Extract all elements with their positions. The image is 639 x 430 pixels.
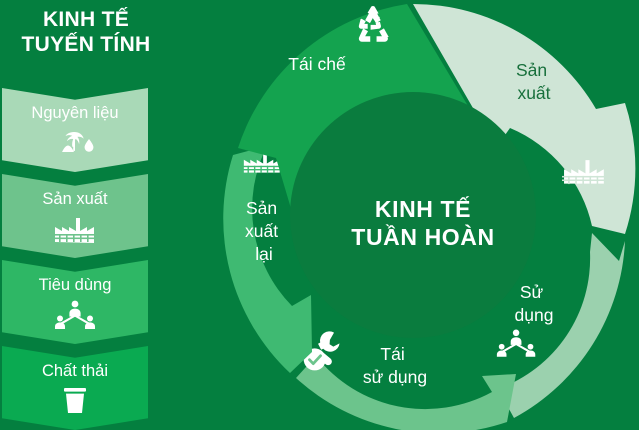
circular-economy-diagram: Sản xuất [176,0,639,430]
linear-step-label: Chất thải [42,363,108,380]
linear-step-tieu-dung[interactable]: Tiêu dùng [2,260,148,344]
linear-step-label: Tiêu dùng [39,277,112,294]
cycle-segment-label: Tái chế [288,54,346,74]
infographic-canvas: KINH TẾ TUYẾN TÍNH Nguyên liệu [0,0,639,430]
linear-economy-steps: Nguyên liệu Sản xuất [2,88,148,430]
cycle-segment-label: Sử dụng [515,282,554,325]
factory-icon [53,213,97,243]
people-group-icon [497,330,535,357]
palm-tree-water-drop-icon [52,127,98,157]
linear-step-san-xuat[interactable]: Sản xuất [2,174,148,258]
linear-step-label: Sản xuất [42,191,107,208]
linear-step-label: Nguyên liệu [31,105,118,122]
cycle-center-disc [290,92,536,338]
cycle-segment-tai-su-dung[interactable]: Tái sử dụng [296,329,516,430]
linear-step-chat-thai[interactable]: Chất thải [2,346,148,430]
cycle-segment-label: Tái sử dụng [363,344,427,387]
trash-bin-icon [60,385,90,415]
people-group-icon [52,299,98,329]
linear-economy-title: KINH TẾ TUYẾN TÍNH [0,8,172,58]
linear-step-nguyen-lieu[interactable]: Nguyên liệu [2,88,148,172]
linear-economy-panel: KINH TẾ TUYẾN TÍNH Nguyên liệu [0,0,186,430]
